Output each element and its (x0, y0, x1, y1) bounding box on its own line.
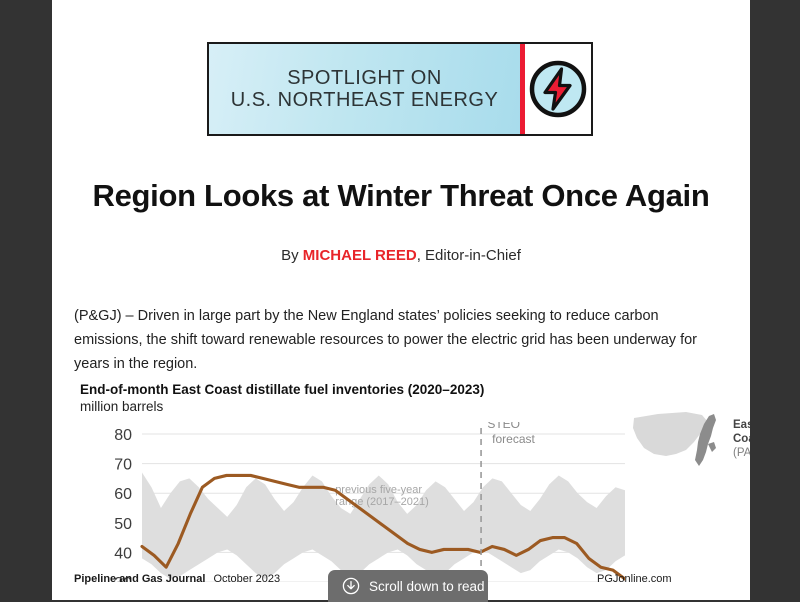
svg-text:40: 40 (114, 545, 132, 562)
chart-y-axis-labels: 807060504030 (114, 427, 132, 582)
region-code: (PADD 1) (733, 446, 750, 460)
forecast-label: forecast (492, 432, 535, 446)
logo-text-panel: SPOTLIGHT ON U.S. NORTHEAST ENERGY (209, 44, 520, 134)
us-map-icon (628, 404, 738, 470)
letterbox-rail-left (0, 0, 52, 600)
chart-title: End-of-month East Coast distillate fuel … (80, 382, 740, 397)
byline-prefix: By (281, 247, 303, 264)
circle-arrow-down-icon (342, 577, 360, 595)
article-page: SPOTLIGHT ON U.S. NORTHEAST ENERGY Regio… (52, 0, 750, 600)
steo-label: STEO (487, 422, 520, 431)
scroll-down-button[interactable]: Scroll down to read (328, 570, 488, 602)
region-name-line-2: Coast (733, 432, 750, 446)
byline-role: , Editor-in-Chief (417, 247, 521, 264)
svg-text:60: 60 (114, 486, 132, 503)
svg-text:50: 50 (114, 516, 132, 533)
chart-figure: End-of-month East Coast distillate fuel … (80, 382, 740, 582)
screenshot-viewport: SPOTLIGHT ON U.S. NORTHEAST ENERGY Regio… (0, 0, 800, 600)
region-map: East Coast (PADD 1) (628, 404, 750, 484)
byline: By MICHAEL REED, Editor-in-Chief (52, 247, 750, 264)
byline-author-link[interactable]: MICHAEL REED (303, 247, 417, 264)
footer-publication: Pipeline and Gas JournalOctober 2023 (74, 573, 280, 585)
region-name-line-1: East (733, 418, 750, 432)
magazine-name: Pipeline and Gas Journal (74, 573, 205, 585)
svg-text:70: 70 (114, 457, 132, 474)
band-annotation-line-1: previous five-year (335, 484, 422, 496)
scroll-down-label: Scroll down to read (369, 579, 485, 594)
letterbox-rail-right (750, 0, 800, 600)
spotlight-logo: SPOTLIGHT ON U.S. NORTHEAST ENERGY (207, 42, 593, 136)
page-title: Region Looks at Winter Threat Once Again (52, 178, 750, 214)
footer-website[interactable]: PGJonline.com (597, 573, 672, 585)
region-caption: East Coast (PADD 1) (733, 418, 750, 460)
chart-plot: 807060504030 previous five-year range (2… (80, 422, 625, 582)
issue-date: October 2023 (213, 573, 280, 585)
logo-line-2: U.S. NORTHEAST ENERGY (231, 89, 499, 111)
lightning-bolt-icon (525, 44, 591, 134)
logo-line-1: SPOTLIGHT ON (287, 67, 442, 89)
svg-text:80: 80 (114, 427, 132, 444)
article-lede-paragraph: (P&GJ) – Driven in large part by the New… (74, 304, 730, 376)
inventories-line-chart: 807060504030 previous five-year range (2… (80, 422, 625, 582)
